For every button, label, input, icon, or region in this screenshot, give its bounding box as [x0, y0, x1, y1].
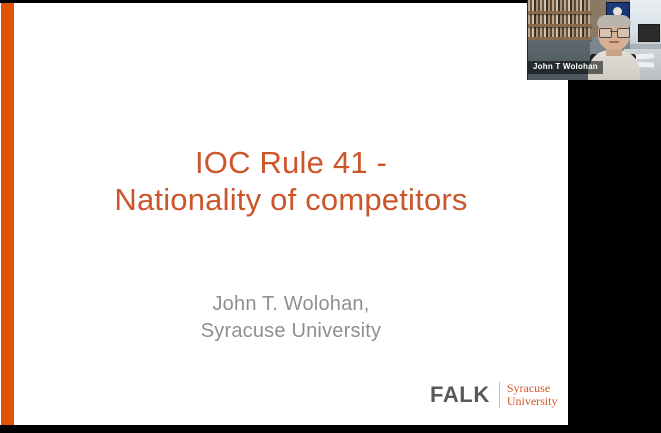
- webcam-participant-name-label: John T Wolohan: [528, 61, 603, 74]
- webcam-shelf-board: [528, 24, 592, 27]
- logo-divider: [499, 382, 500, 408]
- logo-falk-wordmark: FALK: [430, 384, 490, 406]
- webcam-person-hair: [597, 15, 631, 27]
- webcam-shelf-board: [528, 11, 592, 14]
- webcam-glasses-lens-left: [599, 28, 612, 38]
- falk-syracuse-logo: FALK Syracuse University: [430, 380, 558, 410]
- slide-title-line-1: IOC Rule 41 -: [14, 145, 568, 182]
- logo-su-line-2: University: [507, 395, 558, 408]
- webcam-glasses-lens-right: [617, 28, 630, 38]
- webcam-person-mouth: [609, 41, 619, 43]
- logo-su-line-1: Syracuse: [507, 382, 558, 395]
- slide-canvas: IOC Rule 41 - Nationality of competitors…: [0, 3, 568, 425]
- slide-subtitle-line-1: John T. Wolohan,: [14, 291, 568, 318]
- slide-subtitle: John T. Wolohan, Syracuse University: [14, 291, 568, 345]
- presentation-stage: IOC Rule 41 - Nationality of competitors…: [0, 0, 661, 433]
- letterbox-top: [0, 0, 527, 3]
- letterbox-bottom: [0, 425, 661, 433]
- webcam-monitor: [638, 24, 660, 42]
- webcam-bookshelf: [528, 0, 590, 40]
- letterbox-right: [568, 80, 661, 433]
- webcam-glasses-bridge: [610, 31, 617, 32]
- slide-subtitle-line-2: Syracuse University: [14, 318, 568, 345]
- webcam-video-tile[interactable]: John T Wolohan: [527, 0, 661, 80]
- slide-title-line-2: Nationality of competitors: [14, 182, 568, 219]
- webcam-person-glasses: [599, 28, 629, 36]
- slide-title: IOC Rule 41 - Nationality of competitors: [14, 145, 568, 218]
- logo-syracuse-university-wordmark: Syracuse University: [507, 382, 558, 409]
- slide-accent-bar: [1, 3, 14, 425]
